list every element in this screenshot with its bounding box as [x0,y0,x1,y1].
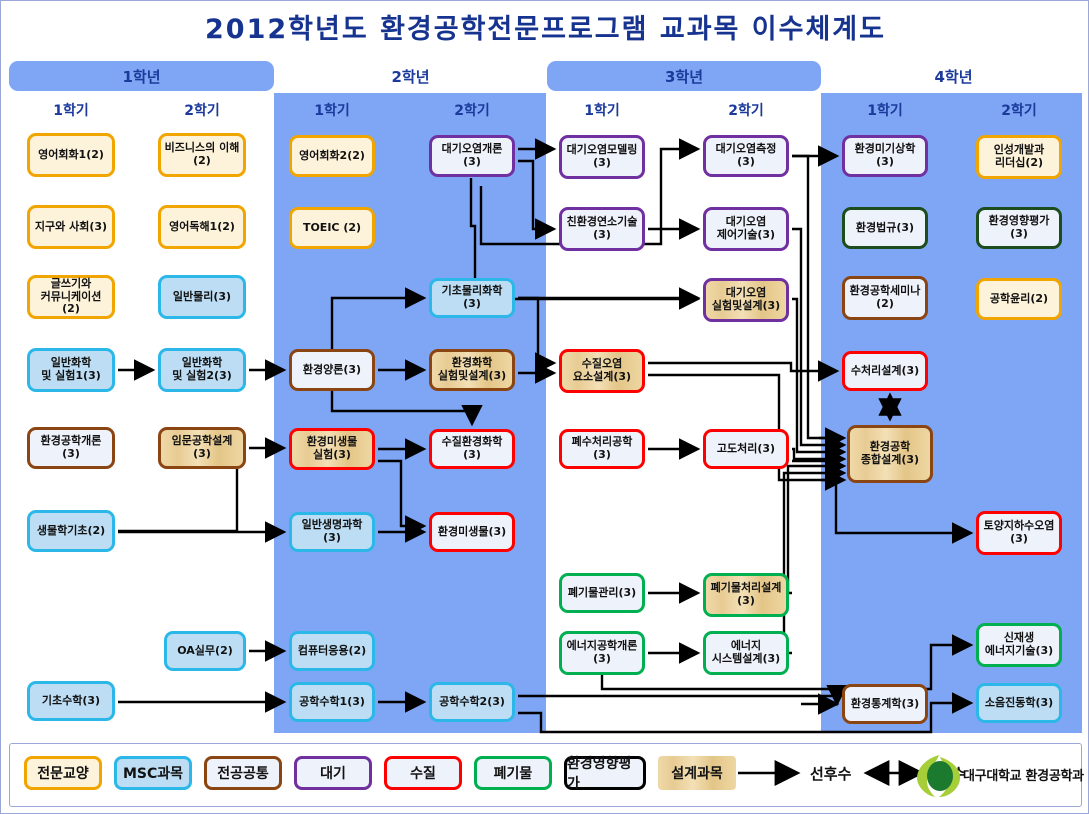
course-node[interactable]: TOEIC (2) [289,207,375,249]
course-label: 영어회화1(2) [38,149,104,162]
legend-swatch[interactable]: 전문교양 [24,756,102,790]
course-label: 환경공학종합설계(3) [861,441,919,466]
course-label: 기초물리화학(3) [434,285,510,310]
course-node[interactable]: 비즈니스의 이해(2) [158,133,246,177]
course-node[interactable]: 컴퓨터응용(2) [289,631,375,671]
course-label: 소음진동학(3) [985,697,1053,710]
course-node[interactable]: 신재생에너지기술(3) [976,623,1062,667]
course-node[interactable]: 환경법규(3) [842,207,928,249]
year-bar-label: 4학년 [934,66,972,87]
year-bar-3: 3학년 [547,61,821,91]
course-node[interactable]: 친환경연소기술(3) [559,207,645,251]
legend-swatch-label: 폐기물 [494,763,533,783]
course-label: OA실무(2) [177,645,233,658]
page-title: 2012학년도 환경공학전문프로그램 교과목 이수체계도 [1,7,1089,46]
course-node[interactable]: 생물학기초(2) [27,510,115,552]
course-node[interactable]: 환경미생물(3) [429,512,515,552]
course-node[interactable]: 환경공학종합설계(3) [847,425,933,483]
course-node[interactable]: 대기오염모델링(3) [559,135,645,179]
year-bar-2: 2학년 [278,61,543,91]
year-bar-label: 2학년 [391,66,429,87]
course-label: 환경영향평가(3) [981,215,1057,240]
course-node[interactable]: 대기오염실험및설계(3) [703,278,789,322]
course-node[interactable]: 환경공학개론(3) [27,427,115,469]
course-label: 공학수학1(3) [299,696,365,709]
year-bar-label: 1학년 [122,66,160,87]
course-label: 일반생명과학(3) [294,519,370,544]
course-label: 에너지공학개론(3) [567,640,638,665]
year-bar-4: 4학년 [825,61,1082,91]
course-node[interactable]: 토양지하수오염(3) [976,511,1062,555]
course-label: 수질오염요소설계(3) [573,358,631,383]
course-node[interactable]: 일반물리(3) [158,275,246,319]
course-label: 환경통계학(3) [851,698,919,711]
course-label: 임문공학설계(3) [163,435,241,460]
legend-prereq-label: 선후수 [810,756,851,790]
course-node[interactable]: 폐수처리공학(3) [559,429,645,469]
course-node[interactable]: 임문공학설계(3) [158,427,246,469]
department-label: 대구대학교 환경공학과 [963,765,1084,784]
course-node[interactable]: 환경미생물실험(3) [289,428,375,470]
semester-header-8: 2학기 [976,99,1062,121]
course-node[interactable]: 대기오염측정(3) [703,135,789,177]
legend-swatch[interactable]: 환경영향평가 [564,756,646,790]
legend-swatch[interactable]: MSC과목 [114,756,192,790]
course-node[interactable]: 일반화학및 실험2(3) [158,348,246,392]
course-label: 컴퓨터응용(2) [298,645,366,658]
course-label: 환경미생물실험(3) [307,436,358,461]
course-node[interactable]: 수질오염요소설계(3) [559,349,645,393]
course-label: 폐수처리공학(3) [564,436,640,461]
course-label: 인성개발과리더십(2) [994,144,1045,169]
course-label: 대기오염측정(3) [708,143,784,168]
course-label: 친환경연소기술(3) [567,216,638,241]
course-label: 환경공학세미나(2) [850,285,921,310]
course-label: 신재생에너지기술(3) [985,632,1053,657]
course-label: 일반화학및 실험2(3) [172,357,232,382]
course-label: 공학수학2(3) [439,696,505,709]
course-node[interactable]: 소음진동학(3) [976,683,1062,723]
course-node[interactable]: 일반생명과학(3) [289,512,375,552]
course-node[interactable]: 기초물리화학(3) [429,278,515,318]
course-node[interactable]: 공학윤리(2) [976,278,1062,320]
semester-header-5: 1학기 [559,99,645,121]
course-label: 환경화학실험및설계(3) [438,357,506,382]
course-label: 일반물리(3) [173,291,231,304]
semester-header-2: 2학기 [158,99,246,121]
semester-header-3: 1학기 [289,99,375,121]
course-node[interactable]: OA실무(2) [164,631,246,671]
legend-swatch[interactable]: 대기 [294,756,372,790]
course-label: 환경미생물(3) [438,526,506,539]
course-node[interactable]: 에너지공학개론(3) [559,631,645,675]
legend-swatch-label: MSC과목 [123,763,183,783]
semester-header-1: 1학기 [27,99,115,121]
course-label: 생물학기초(2) [37,525,105,538]
curriculum-flowchart: 2012학년도 환경공학전문프로그램 교과목 이수체계도 1학년 2학년 3학년… [0,0,1089,814]
course-node[interactable]: 환경통계학(3) [842,684,928,724]
legend-swatch[interactable]: 설계과목 [658,756,736,790]
legend-swatch-label: 설계과목 [671,763,723,783]
course-label: 지구와 사회(3) [35,221,107,234]
course-node[interactable]: 환경미기상학(3) [842,135,928,177]
course-label: TOEIC (2) [303,222,361,235]
year-bar-label: 3학년 [665,66,703,87]
course-node[interactable]: 인성개발과리더십(2) [976,135,1062,179]
course-node[interactable]: 지구와 사회(3) [27,205,115,249]
course-node[interactable]: 대기오염제어기술(3) [703,207,789,251]
course-node[interactable]: 영어독해1(2) [158,205,246,249]
legend-swatch-label: 환경영향평가 [567,753,643,793]
semester-header-7: 1학기 [842,99,928,121]
course-label: 폐기물처리설계(3) [711,582,782,607]
course-label: 폐기물관리(3) [568,587,636,600]
course-label: 일반화학및 실험1(3) [41,357,101,382]
course-label: 수처리설계(3) [851,365,919,378]
legend-swatch-label: 전공공통 [217,763,269,783]
course-label: 글쓰기와커뮤니케이션(2) [32,278,110,316]
course-label: 수질환경화학(3) [434,436,510,461]
legend-swatch-label: 전문교양 [37,763,89,783]
course-node[interactable]: 글쓰기와커뮤니케이션(2) [27,275,115,319]
course-node[interactable]: 환경양론(3) [289,349,375,391]
course-label: 환경법규(3) [856,222,914,235]
course-node[interactable]: 영어회화1(2) [27,133,115,177]
course-node[interactable]: 일반화학및 실험1(3) [27,348,115,392]
legend-swatch-label: 대기 [320,763,346,783]
legend-swatch[interactable]: 폐기물 [474,756,552,790]
course-node[interactable]: 수질환경화학(3) [429,429,515,469]
course-label: 환경미기상학(3) [847,143,923,168]
course-label: 비즈니스의 이해(2) [165,142,240,167]
course-node[interactable]: 환경화학실험및설계(3) [429,349,515,391]
course-label: 환경공학개론(3) [32,435,110,460]
course-node[interactable]: 기초수학(3) [27,681,115,721]
course-label: 대기오염모델링(3) [567,144,638,169]
course-label: 공학윤리(2) [990,293,1048,306]
course-label: 영어독해1(2) [169,221,235,234]
course-node[interactable]: 공학수학1(3) [289,682,375,722]
legend-swatch[interactable]: 수질 [384,756,462,790]
course-label: 토양지하수오염(3) [984,520,1055,545]
course-node[interactable]: 환경공학세미나(2) [842,276,928,320]
course-label: 기초수학(3) [42,695,100,708]
course-label: 대기오염개론(3) [434,143,510,168]
legend-swatch-label: 수질 [410,763,436,783]
course-node[interactable]: 공학수학2(3) [429,682,515,722]
course-label: 영어회화2(2) [299,150,365,163]
course-node[interactable]: 고도처리(3) [703,429,789,469]
course-label: 고도처리(3) [717,443,775,456]
course-node[interactable]: 폐기물관리(3) [559,573,645,613]
legend-swatch[interactable]: 전공공통 [204,756,282,790]
course-node[interactable]: 환경영향평가(3) [976,207,1062,249]
course-node[interactable]: 대기오염개론(3) [429,135,515,177]
university-logo-icon [913,753,965,799]
course-node[interactable]: 폐기물처리설계(3) [703,573,789,617]
course-label: 환경양론(3) [303,364,361,377]
course-label: 대기오염제어기술(3) [717,216,775,241]
course-node[interactable]: 수처리설계(3) [842,351,928,391]
semester-header-6: 2학기 [703,99,789,121]
year-bar-1: 1학년 [9,61,274,91]
course-label: 에너지시스템설계(3) [712,640,780,665]
semester-header-4: 2학기 [429,99,515,121]
course-label: 대기오염실험및설계(3) [712,287,780,312]
course-node[interactable]: 에너지시스템설계(3) [703,631,789,675]
course-node[interactable]: 영어회화2(2) [289,135,375,177]
